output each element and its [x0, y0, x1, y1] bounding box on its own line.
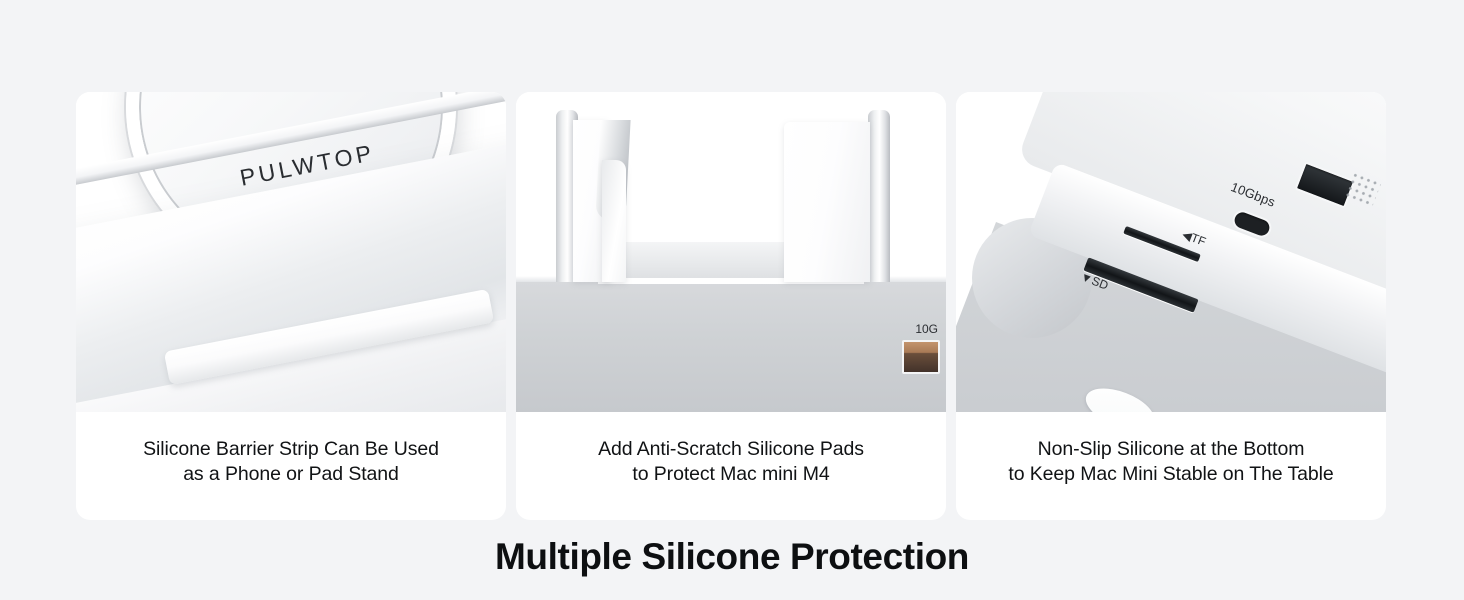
card-caption: Non-Slip Silicone at the Bottom to Keep …	[956, 412, 1386, 520]
silicone-pad-right	[784, 122, 870, 282]
card-caption: Silicone Barrier Strip Can Be Used as a …	[76, 412, 506, 520]
caption-line-2: as a Phone or Pad Stand	[183, 463, 399, 485]
caption-line-2: to Protect Mac mini M4	[632, 463, 829, 485]
product-photo-silicone-pads: 10G	[516, 92, 946, 412]
aluminium-fin-right	[868, 110, 890, 282]
dock-base	[516, 282, 946, 412]
feature-card-silicone-barrier-strip: PULWTOP 10Gbps ▼SD ◀TF 10Gbps Silicone B…	[76, 92, 506, 520]
product-photo-non-slip-bottom: ▼SD ◀TF 10Gbps	[956, 92, 1386, 412]
silicone-pad-left-inner	[602, 160, 626, 282]
caption-line-1: Non-Slip Silicone at the Bottom	[1038, 438, 1305, 460]
page-headline: Multiple Silicone Protection	[0, 536, 1464, 578]
usba-speed-label: 10G	[915, 322, 938, 336]
feature-card-row: PULWTOP 10Gbps ▼SD ◀TF 10Gbps Silicone B…	[76, 92, 1386, 520]
caption-line-2: to Keep Mac Mini Stable on The Table	[1008, 463, 1333, 485]
card-caption: Add Anti-Scratch Silicone Pads to Protec…	[516, 412, 946, 520]
product-photo-barrier-strip: PULWTOP 10Gbps ▼SD ◀TF 10Gbps	[76, 92, 506, 412]
feature-card-non-slip-bottom: ▼SD ◀TF 10Gbps Non-Slip Silicone at the …	[956, 92, 1386, 520]
feature-card-anti-scratch-pads: 10G Add Anti-Scratch Silicone Pads to Pr…	[516, 92, 946, 520]
caption-line-1: Silicone Barrier Strip Can Be Used	[143, 438, 439, 460]
caption-line-1: Add Anti-Scratch Silicone Pads	[598, 438, 864, 460]
usb-a-port-icon	[902, 340, 940, 374]
